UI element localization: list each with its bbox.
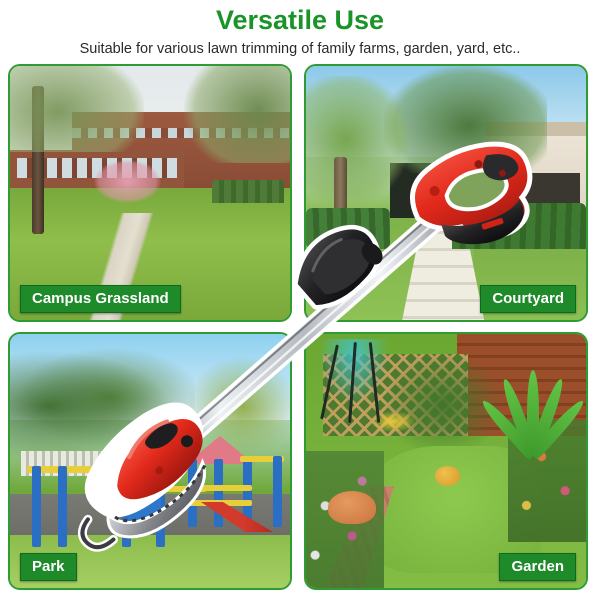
scene-panel-courtyard[interactable]: Courtyard (304, 64, 588, 322)
scene-label-courtyard: Courtyard (480, 285, 576, 313)
page-subtitle: Suitable for various lawn trimming of fa… (0, 40, 600, 58)
scene-image-courtyard (306, 66, 586, 320)
versatile-use-infographic: Versatile Use Suitable for various lawn … (0, 0, 600, 600)
scene-image-campus-grassland (10, 66, 290, 320)
scene-image-garden (306, 334, 586, 588)
page-title: Versatile Use (0, 4, 600, 36)
scene-panel-campus-grassland[interactable]: Campus Grassland (8, 64, 292, 322)
scene-label-campus-grassland: Campus Grassland (20, 285, 181, 313)
scene-grid: Campus Grassland Courtyard (8, 64, 592, 592)
scene-panel-park[interactable]: Park (8, 332, 292, 590)
scene-panel-garden[interactable]: Garden (304, 332, 588, 590)
scene-label-park: Park (20, 553, 77, 581)
header: Versatile Use Suitable for various lawn … (0, 0, 600, 58)
scene-image-park (10, 334, 290, 588)
scene-label-garden: Garden (499, 553, 576, 581)
